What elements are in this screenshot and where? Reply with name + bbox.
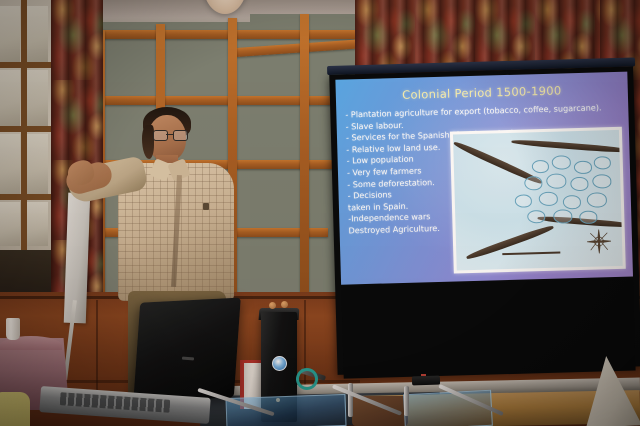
map-hill-symbol bbox=[592, 174, 611, 189]
screen-dark-lower-area bbox=[341, 279, 635, 379]
map-hill-symbol bbox=[553, 209, 572, 224]
stand-leg bbox=[348, 383, 353, 417]
yellow-chair bbox=[0, 392, 30, 426]
paper-cup bbox=[6, 318, 20, 340]
glasses-lens-left bbox=[153, 130, 168, 141]
glasses-icon bbox=[153, 130, 187, 140]
window-mullion bbox=[0, 126, 52, 132]
map-hill-symbol bbox=[532, 160, 549, 173]
projector-remote[interactable] bbox=[412, 376, 440, 386]
window-mullion bbox=[0, 194, 52, 200]
map-hill-symbol bbox=[515, 194, 532, 207]
map-hill-symbol bbox=[570, 177, 588, 191]
map-coastline bbox=[465, 224, 554, 261]
slide-map-image bbox=[450, 127, 626, 274]
wall-batten-vertical-4 bbox=[300, 14, 309, 304]
map-hill-symbol bbox=[587, 192, 607, 208]
laptop-lid bbox=[133, 297, 241, 402]
map-hill-symbol bbox=[563, 195, 581, 209]
compass-rose-icon bbox=[587, 229, 612, 254]
window-pane bbox=[26, 70, 48, 126]
presenter-pocket-emblem bbox=[203, 203, 209, 210]
window-pane bbox=[0, 134, 20, 194]
stand-leg bbox=[404, 386, 409, 416]
glass-panel bbox=[225, 394, 346, 426]
historic-map bbox=[453, 130, 623, 271]
remote-led-indicator bbox=[421, 374, 426, 376]
window-pane bbox=[26, 6, 48, 62]
screenshot-canvas: Colonial Period 1500-1900 - Plantation a… bbox=[0, 0, 640, 426]
map-hill-symbol bbox=[527, 210, 545, 223]
screen-surface: Colonial Period 1500-1900 - Plantation a… bbox=[329, 66, 640, 374]
map-hill-symbol bbox=[579, 211, 597, 224]
projection-screen: Colonial Period 1500-1900 - Plantation a… bbox=[327, 57, 640, 377]
window-pane bbox=[0, 70, 20, 126]
glasses-lens-right bbox=[173, 130, 188, 141]
speaker-button[interactable] bbox=[281, 301, 288, 308]
speaker-button[interactable] bbox=[269, 302, 276, 309]
map-hill-symbol bbox=[546, 173, 566, 189]
map-hill-symbol bbox=[524, 176, 542, 190]
slide-title: Colonial Period 1500-1900 bbox=[336, 82, 628, 104]
window-pane bbox=[26, 202, 48, 246]
window-mullion bbox=[0, 62, 52, 68]
window-pane bbox=[0, 6, 20, 62]
window-pane bbox=[0, 202, 20, 246]
glass-panel bbox=[403, 390, 493, 426]
map-scale-bar bbox=[503, 252, 561, 256]
window-pane bbox=[26, 134, 48, 194]
speaker-brand-logo bbox=[272, 356, 287, 371]
map-coastline bbox=[511, 139, 622, 154]
presentation-slide: Colonial Period 1500-1900 - Plantation a… bbox=[335, 72, 633, 285]
map-hill-symbol bbox=[594, 156, 611, 169]
map-hill-symbol bbox=[574, 161, 592, 174]
map-hill-symbol bbox=[539, 192, 558, 207]
map-hill-symbol bbox=[552, 155, 571, 170]
glasses-bridge bbox=[166, 134, 173, 135]
